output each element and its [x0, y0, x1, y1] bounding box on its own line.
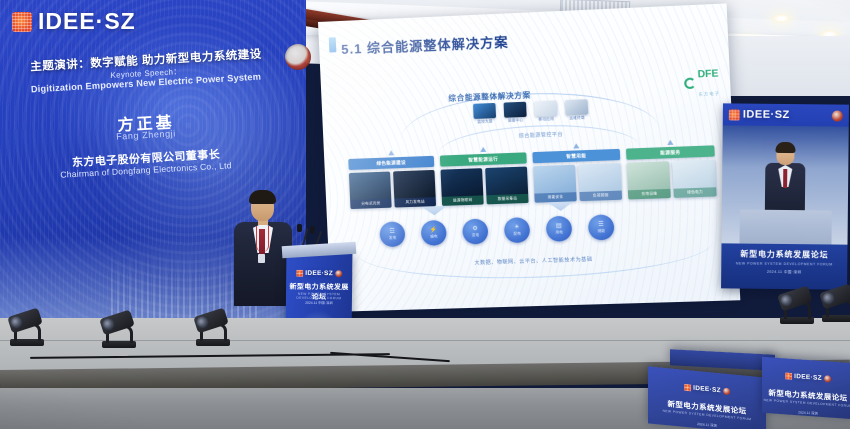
ceiling-downlight [772, 14, 791, 23]
right-screen-title-en: NEW POWER SYSTEM DEVELOPMENT FORUM [721, 261, 847, 266]
panel-logo: IDEE·SZ [684, 384, 730, 395]
circular-seal-emblem-icon [285, 44, 311, 70]
dotted-grid-square-icon [729, 109, 740, 120]
panel-logo: IDEE·SZ [785, 372, 831, 382]
right-screen-caption: 新型电力系统发展论坛 NEW POWER SYSTEM DEVELOPMENT … [721, 243, 847, 289]
panel-logo-text: IDEE·SZ [794, 373, 822, 382]
slide-surface: 5.1 综合能源整体解决方案 DFE 东方电子 综合能源整体解决方案 监控大屏 [318, 3, 740, 312]
stage-light-fixture [778, 290, 818, 324]
front-panel: IDEE·SZ 新型电力系统发展论坛 NEW POWER SYSTEM DEVE… [762, 357, 850, 419]
microphone-head-icon [310, 226, 315, 234]
podium-date: 2024.11 中国·深圳 [286, 300, 352, 306]
speaker-screen-tie [783, 169, 787, 188]
stage-light-fixture [194, 312, 234, 346]
speaker-badge [258, 254, 265, 263]
microphone-head-icon [297, 224, 302, 232]
backdrop-idee-logo: IDEE·SZ [12, 8, 136, 35]
circular-seal-emblem-icon [723, 388, 730, 396]
main-projection-screen: 5.1 综合能源整体解决方案 DFE 东方电子 综合能源整体解决方案 监控大屏 [318, 3, 740, 312]
light-lens-icon [820, 290, 836, 306]
speaker-hair [249, 190, 276, 204]
dotted-grid-square-icon [785, 372, 792, 379]
light-lens-icon [194, 314, 210, 330]
conference-stage-photo: IDEE·SZ 主题演讲：数字赋能 助力新型电力系统建设 Keynote Spe… [0, 0, 850, 429]
podium-logo: IDEE·SZ [296, 270, 342, 277]
podium-logo-text: IDEE·SZ [305, 270, 333, 277]
circular-seal-emblem-icon [335, 270, 342, 277]
stage-light-fixture [8, 312, 48, 346]
right-screen-logo-text: IDEE·SZ [743, 109, 790, 121]
right-screen-title-zh: 新型电力系统发展论坛 [721, 248, 847, 260]
front-panel: IDEE·SZ 新型电力系统发展论坛 NEW POWER SYSTEM DEVE… [648, 366, 766, 429]
circular-seal-emblem-icon [824, 375, 831, 382]
right-screen-date: 2024.11 中国·深圳 [721, 269, 847, 275]
stage-light-fixture [820, 288, 850, 322]
light-lens-icon [778, 292, 794, 308]
right-screen-live-feed [721, 125, 848, 246]
speaker-lanyard [256, 226, 269, 252]
speaker-on-screen [763, 144, 808, 214]
stage-light-fixture [100, 314, 140, 348]
panel-logo-text: IDEE·SZ [693, 385, 721, 395]
right-screen-header: IDEE·SZ [723, 103, 849, 126]
speaker-screen-hair [775, 142, 795, 153]
dotted-grid-square-icon [296, 270, 303, 277]
dotted-grid-square-icon [684, 384, 691, 392]
dotted-grid-square-icon [12, 12, 32, 32]
right-led-screen: IDEE·SZ 新型电力系统发展论坛 NEW POWER SYSTEM DEVE… [721, 103, 849, 289]
light-lens-icon [100, 316, 116, 332]
light-lens-icon [8, 314, 24, 330]
podium-on-screen [739, 210, 831, 247]
backdrop-logo-text: IDEE·SZ [38, 8, 136, 35]
circular-seal-emblem-icon [832, 110, 843, 121]
screen-glare [318, 3, 740, 312]
